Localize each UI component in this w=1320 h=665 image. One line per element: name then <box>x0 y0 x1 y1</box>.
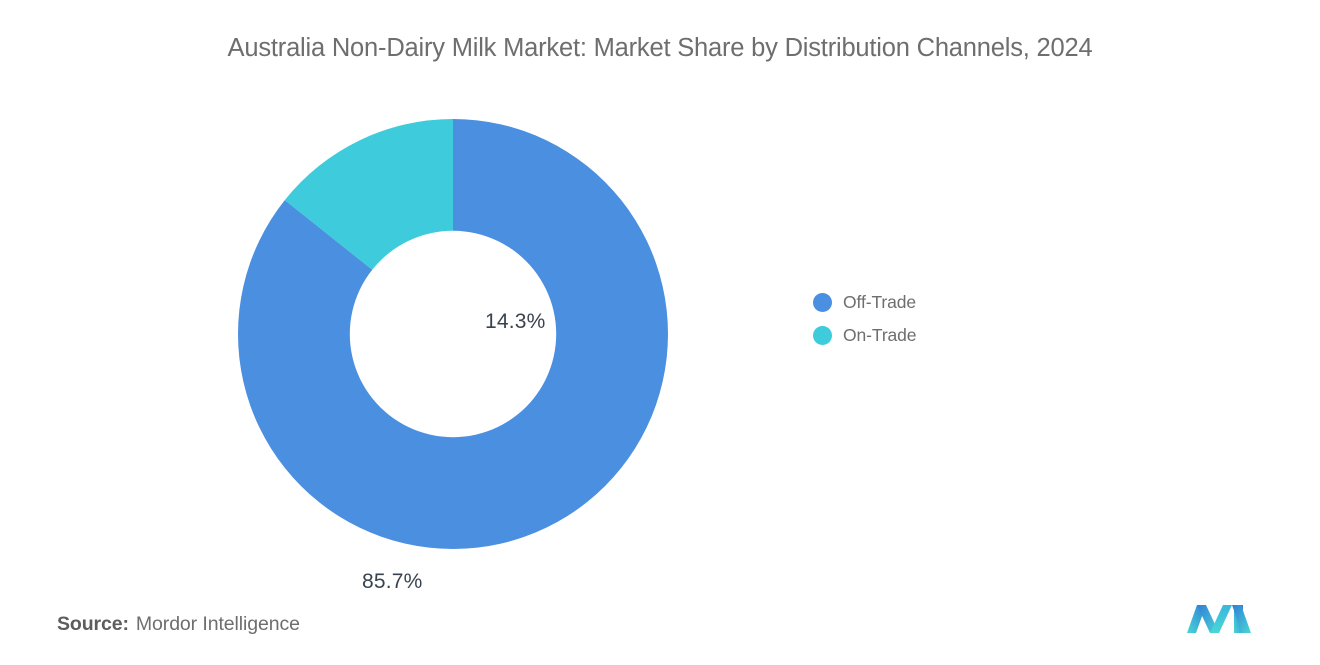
donut-chart: 14.3% 85.7% <box>238 119 668 549</box>
chart-canvas: Australia Non-Dairy Milk Market: Market … <box>0 0 1320 665</box>
mordor-intelligence-logo-icon <box>1186 599 1252 637</box>
source-value: Mordor Intelligence <box>136 613 300 635</box>
source-attribution: Source:Mordor Intelligence <box>57 613 300 636</box>
legend-color-swatch-icon <box>813 326 832 345</box>
legend-item-label: On-Trade <box>843 325 916 346</box>
legend-color-swatch-icon <box>813 293 832 312</box>
donut-chart-svg <box>238 119 668 549</box>
donut-slice-group <box>238 119 668 549</box>
slice-value-label-off-trade: 85.7% <box>362 570 423 594</box>
chart-legend: Off-Trade On-Trade <box>813 286 916 352</box>
slice-value-label-on-trade: 14.3% <box>485 310 546 334</box>
page-title: Australia Non-Dairy Milk Market: Market … <box>0 30 1320 66</box>
legend-item-off-trade[interactable]: Off-Trade <box>813 286 916 319</box>
legend-item-on-trade[interactable]: On-Trade <box>813 319 916 352</box>
legend-item-label: Off-Trade <box>843 292 916 313</box>
source-label: Source: <box>57 613 129 635</box>
